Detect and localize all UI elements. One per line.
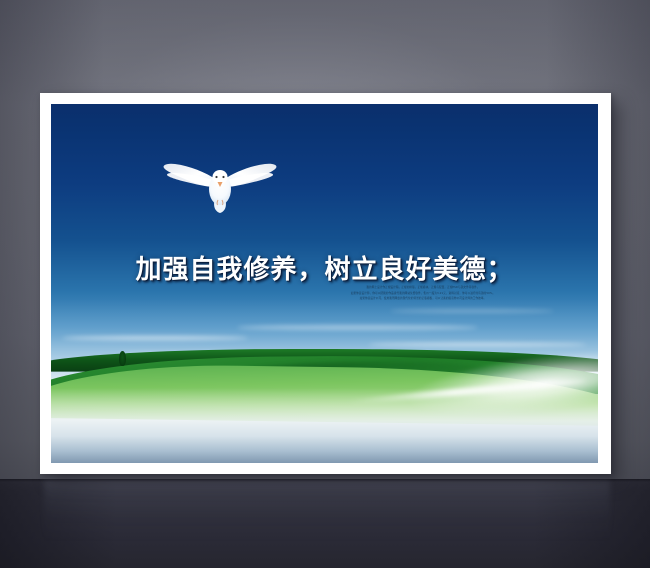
landscape [51, 343, 598, 463]
body-line: 如果你是设计公司，使用我所网络的现代化的背景的正版模板，可以让素的提高你公司设计… [264, 296, 581, 301]
tree-icon [119, 351, 126, 366]
poster-artwork: 加强自我修养，树立良好美德； 我的网上设计作正规设计稿，正规的排版，正规模块，正… [51, 104, 598, 463]
flying-dove-icon [161, 152, 279, 214]
foreground-fade [51, 388, 598, 463]
poster-headline: 加强自我修养，树立良好美德； [51, 249, 598, 286]
cloud-streak [62, 336, 248, 340]
cloud-streak [237, 325, 478, 330]
poster-reflection [44, 480, 610, 542]
poster-white-frame[interactable]: 加强自我修养，树立良好美德； 我的网上设计作正规设计稿，正规的排版，正规模块，正… [40, 93, 611, 474]
poster-body-copy: 我的网上设计作正规设计稿，正规的排版，正规模块，正规与配置，正规PSD与源文件等… [264, 285, 581, 301]
cloud-streak [390, 309, 554, 313]
poster-mockup-scene: 加强自我修养，树立良好美德； 我的网上设计作正规设计稿，正规的排版，正规模块，正… [0, 0, 650, 568]
